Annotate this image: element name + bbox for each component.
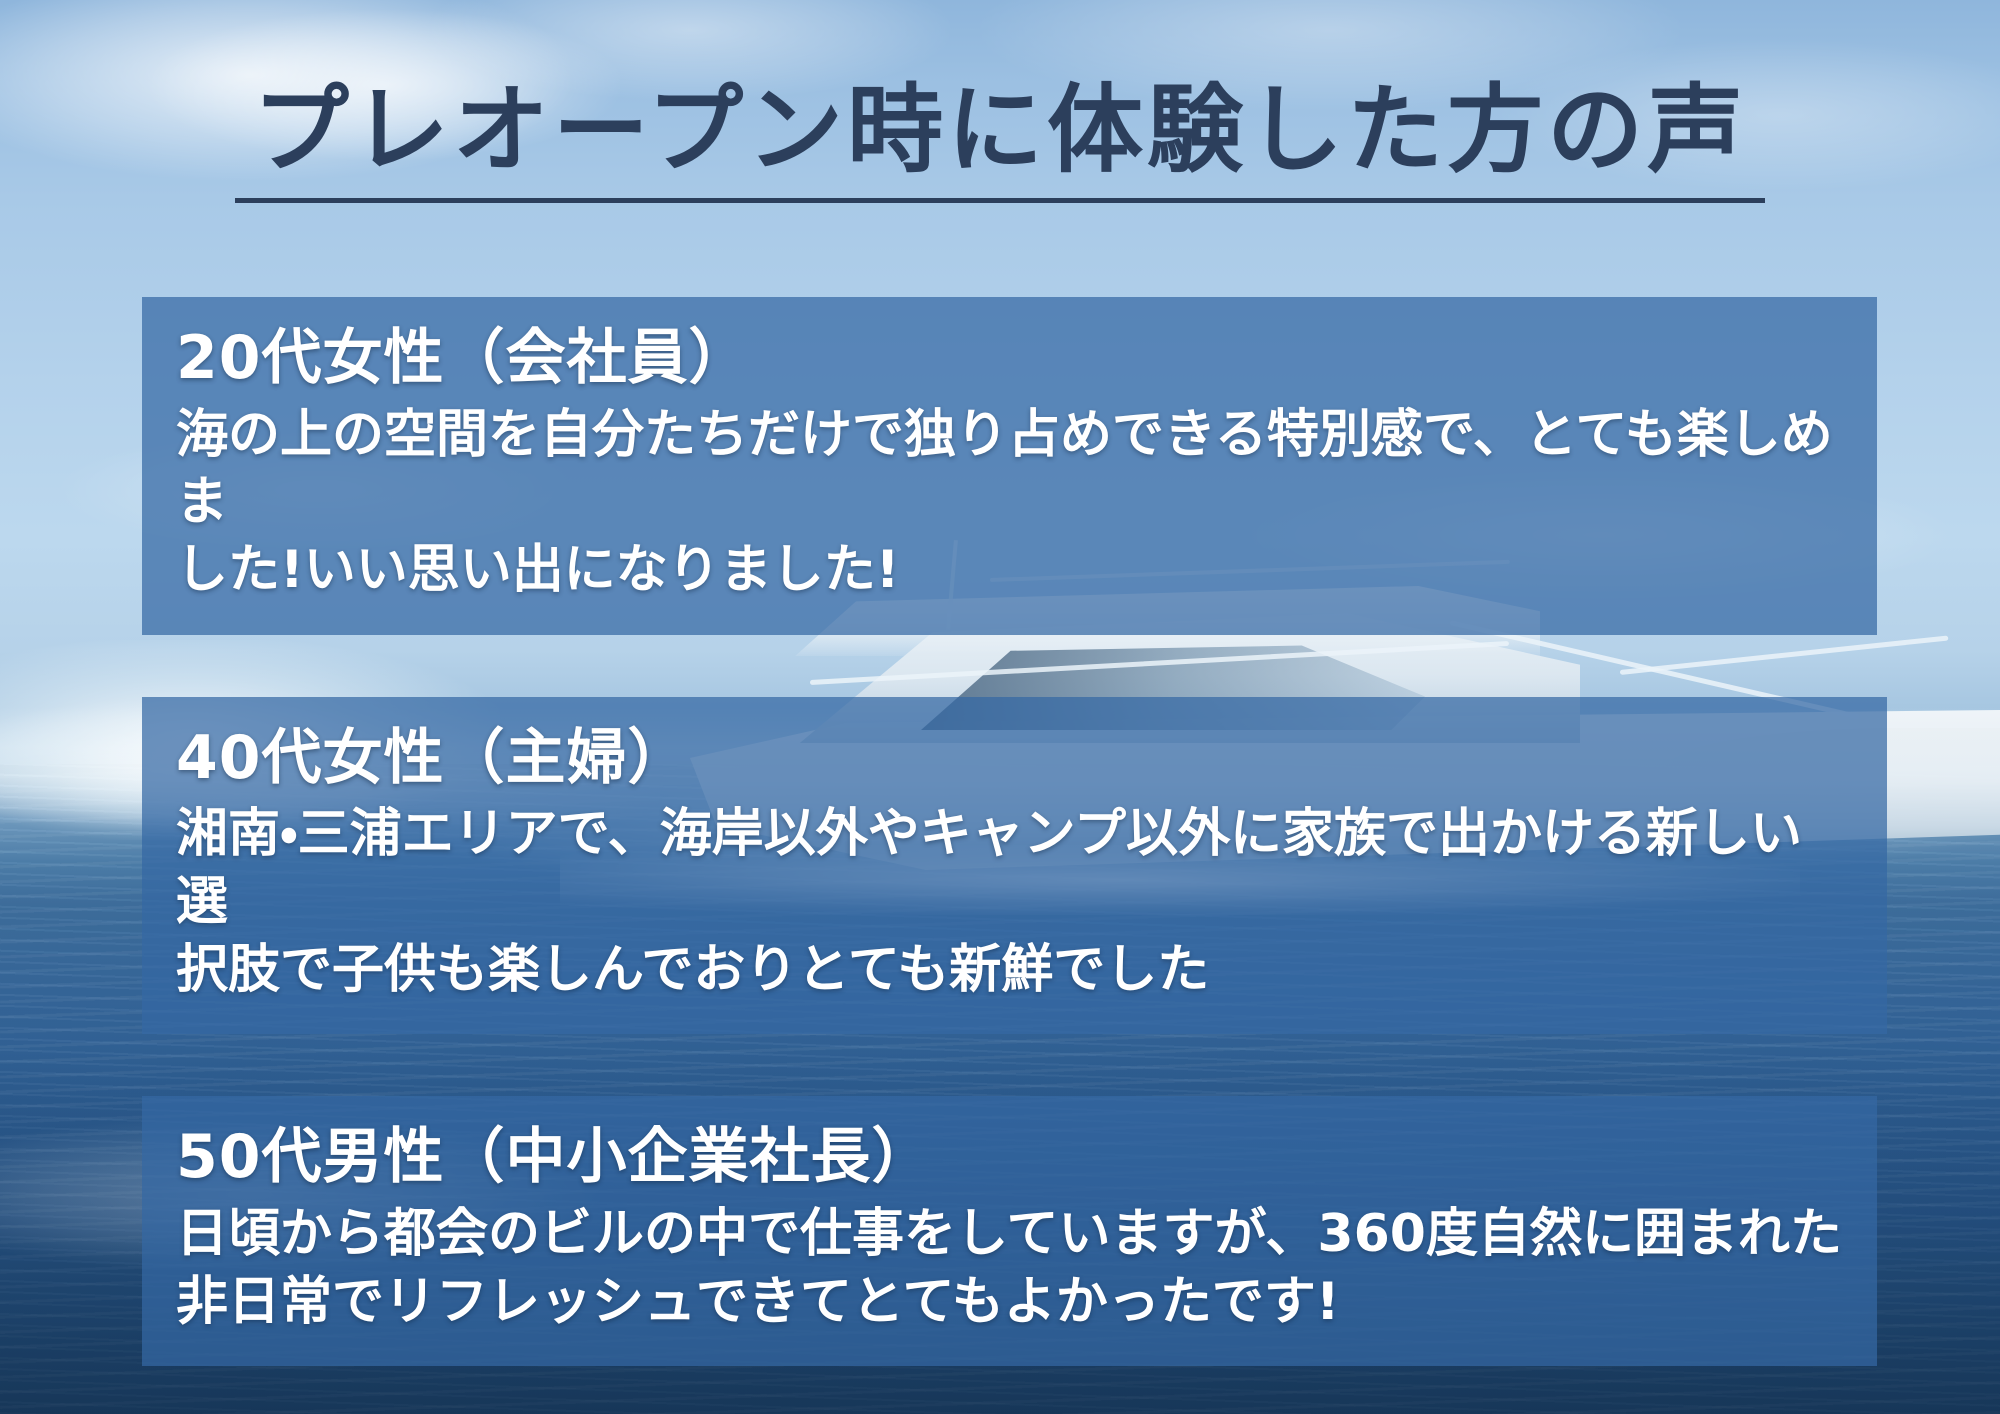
testimonial-body-line: 択肢で子供も楽しんでおりとても新鮮でした <box>176 937 1853 1005</box>
title-block: プレオープン時に体験した方の声 <box>0 78 2000 203</box>
page-title: プレオープン時に体験した方の声 <box>235 78 1765 203</box>
testimonial-body-line: 海の上の空間を自分たちだけで独り占めできる特別感で、とても楽しめま <box>176 402 1843 537</box>
testimonial-body-line: した!いい思い出になりました! <box>176 537 1843 605</box>
testimonial-heading: 20代女性（会社員） <box>176 323 1843 394</box>
testimonial-body: 日頃から都会のビルの中で仕事をしていますが、360度自然に囲まれた 非日常でリフ… <box>176 1201 1843 1336</box>
testimonial-list: 20代女性（会社員） 海の上の空間を自分たちだけで独り占めできる特別感で、とても… <box>142 297 1887 1414</box>
testimonial-card: 40代女性（主婦） 湘南・三浦エリアで、海岸以外やキャンプ以外に家族で出かける新… <box>142 697 1887 1035</box>
slide-root: プレオープン時に体験した方の声 20代女性（会社員） 海の上の空間を自分たちだけ… <box>0 0 2000 1414</box>
testimonial-body-line: 非日常でリフレッシュできてとてもよかったです! <box>176 1269 1843 1337</box>
testimonial-body-line: 日頃から都会のビルの中で仕事をしていますが、360度自然に囲まれた <box>176 1201 1843 1269</box>
testimonial-body: 湘南・三浦エリアで、海岸以外やキャンプ以外に家族で出かける新しい選 択肢で子供も… <box>176 801 1853 1004</box>
testimonial-card: 20代女性（会社員） 海の上の空間を自分たちだけで独り占めできる特別感で、とても… <box>142 297 1877 635</box>
testimonial-body-line: 湘南・三浦エリアで、海岸以外やキャンプ以外に家族で出かける新しい選 <box>176 801 1853 936</box>
testimonial-card: 50代男性（中小企業社長） 日頃から都会のビルの中で仕事をしていますが、360度… <box>142 1096 1877 1366</box>
testimonial-body: 海の上の空間を自分たちだけで独り占めできる特別感で、とても楽しめま した!いい思… <box>176 402 1843 605</box>
testimonial-heading: 40代女性（主婦） <box>176 723 1853 794</box>
testimonial-heading: 50代男性（中小企業社長） <box>176 1122 1843 1193</box>
